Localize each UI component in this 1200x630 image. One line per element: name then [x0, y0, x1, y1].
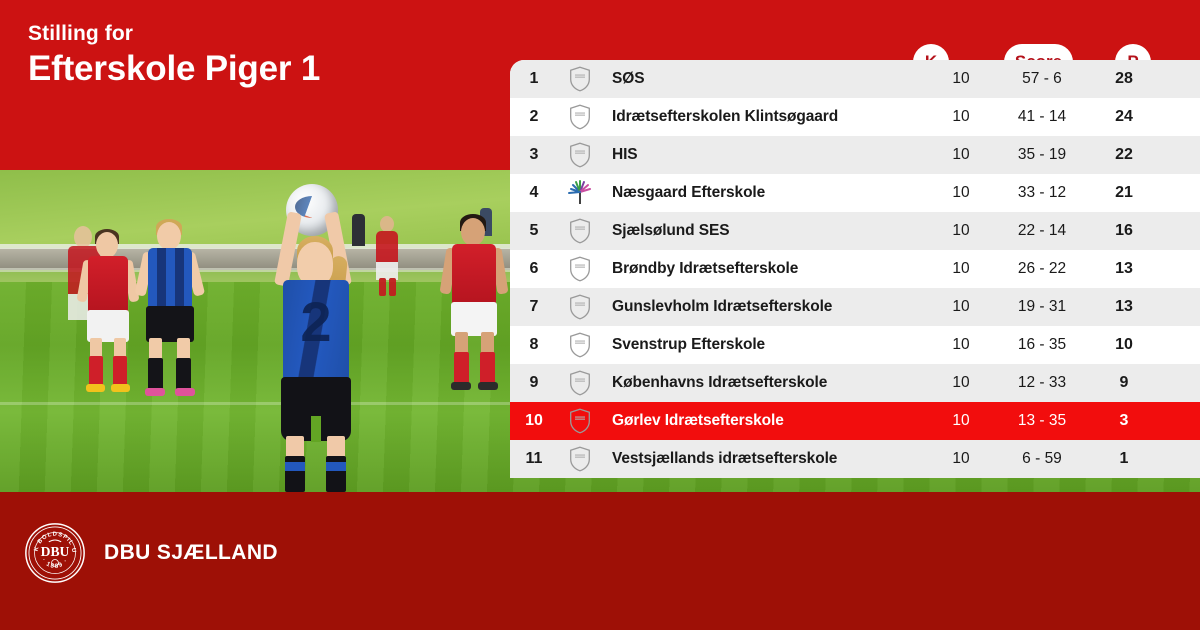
cell-club-logo — [558, 66, 602, 92]
cell-position: 10 — [510, 412, 558, 430]
cell-position: 7 — [510, 298, 558, 316]
cell-position: 9 — [510, 374, 558, 392]
cell-goal-score: 12 - 33 — [992, 374, 1092, 392]
cell-position: 11 — [510, 450, 558, 468]
cell-position: 4 — [510, 184, 558, 202]
cell-team-name: Sjælsølund SES — [602, 222, 930, 240]
standings-table: 1 SØS1057 - 6282 Idrætsefterskolen Klint… — [510, 60, 1200, 478]
table-row[interactable]: 3 HIS1035 - 1922 — [510, 136, 1200, 174]
club-shield-icon — [569, 294, 591, 320]
cell-club-logo — [558, 180, 602, 206]
club-shield-icon — [569, 446, 591, 472]
cell-team-name: Brøndby Idrætsefterskole — [602, 260, 930, 278]
cell-matches-played: 10 — [930, 412, 992, 430]
table-row[interactable]: 2 Idrætsefterskolen Klintsøgaard1041 - 1… — [510, 98, 1200, 136]
cell-goal-score: 19 - 31 — [992, 298, 1092, 316]
cell-club-logo — [558, 332, 602, 358]
cell-points: 24 — [1092, 108, 1156, 126]
cell-team-name: HIS — [602, 146, 930, 164]
club-shield-icon — [569, 104, 591, 130]
club-shield-icon — [569, 256, 591, 282]
cell-points: 28 — [1092, 70, 1156, 88]
cell-club-logo — [558, 142, 602, 168]
cell-goal-score: 41 - 14 — [992, 108, 1092, 126]
photo-player-red-right — [441, 218, 507, 404]
cell-club-logo — [558, 370, 602, 396]
cell-points: 13 — [1092, 298, 1156, 316]
table-row[interactable]: 6 Brøndby Idrætsefterskole1026 - 2213 — [510, 250, 1200, 288]
page-title: Efterskole Piger 1 — [28, 51, 320, 88]
cell-points: 13 — [1092, 260, 1156, 278]
cell-points: 1 — [1092, 450, 1156, 468]
cell-matches-played: 10 — [930, 184, 992, 202]
cell-team-name: Svenstrup Efterskole — [602, 336, 930, 354]
cell-team-name: Idrætsefterskolen Klintsøgaard — [602, 108, 930, 126]
cell-team-name: Gunslevholm Idrætsefterskole — [602, 298, 930, 316]
cell-matches-played: 10 — [930, 108, 992, 126]
photo-player-red-left — [78, 232, 138, 404]
footer-brand: DANSK BOLDSPIL UNION · 1889 · DBU DBU SJ… — [24, 522, 278, 584]
cell-club-logo — [558, 256, 602, 282]
cell-goal-score: 33 - 12 — [992, 184, 1092, 202]
naesgaard-tree-icon — [567, 180, 593, 206]
header-kicker: Stilling for — [28, 22, 320, 45]
cell-position: 5 — [510, 222, 558, 240]
header-title-wrap: Stilling for Efterskole Piger 1 — [28, 22, 320, 88]
club-shield-icon — [569, 66, 591, 92]
cell-matches-played: 10 — [930, 298, 992, 316]
cell-team-name: Københavns Idrætsefterskole — [602, 374, 930, 392]
table-row[interactable]: 4 Næsgaard Efterskole1033 - 1221 — [510, 174, 1200, 212]
cell-matches-played: 10 — [930, 146, 992, 164]
photo-player-blue-left — [133, 222, 203, 402]
cell-matches-played: 10 — [930, 260, 992, 278]
cell-goal-score: 22 - 14 — [992, 222, 1092, 240]
cell-team-name: SØS — [602, 70, 930, 88]
table-row[interactable]: 11 Vestsjællands idrætsefterskole106 - 5… — [510, 440, 1200, 478]
table-row[interactable]: 9 Københavns Idrætsefterskole1012 - 339 — [510, 364, 1200, 402]
cell-club-logo — [558, 446, 602, 472]
table-row[interactable]: 7 Gunslevholm Idrætsefterskole1019 - 311… — [510, 288, 1200, 326]
cell-matches-played: 10 — [930, 70, 992, 88]
cell-points: 16 — [1092, 222, 1156, 240]
cell-team-name: Næsgaard Efterskole — [602, 184, 930, 202]
club-shield-icon — [569, 370, 591, 396]
cell-goal-score: 16 - 35 — [992, 336, 1092, 354]
table-row[interactable]: 10 Gørlev Idrætsefterskole1013 - 353 — [510, 402, 1200, 440]
cell-club-logo — [558, 408, 602, 434]
club-shield-icon — [569, 332, 591, 358]
cell-club-logo — [558, 218, 602, 244]
cell-matches-played: 10 — [930, 222, 992, 240]
cell-goal-score: 26 - 22 — [992, 260, 1092, 278]
cell-goal-score: 57 - 6 — [992, 70, 1092, 88]
cell-matches-played: 10 — [930, 450, 992, 468]
cell-position: 1 — [510, 70, 558, 88]
footer-band: DANSK BOLDSPIL UNION · 1889 · DBU DBU SJ… — [0, 492, 1200, 630]
cell-goal-score: 13 - 35 — [992, 412, 1092, 430]
cell-points: 3 — [1092, 412, 1156, 430]
table-row[interactable]: 8 Svenstrup Efterskole1016 - 3510 — [510, 326, 1200, 364]
standings-graphic: Stilling for Efterskole Piger 1 allerup — [0, 0, 1200, 630]
cell-goal-score: 6 - 59 — [992, 450, 1092, 468]
cell-position: 3 — [510, 146, 558, 164]
table-row[interactable]: 1 SØS1057 - 628 — [510, 60, 1200, 98]
dbu-logo-icon: DANSK BOLDSPIL UNION · 1889 · DBU — [24, 522, 86, 584]
footer-org-name: DBU SJÆLLAND — [104, 541, 278, 565]
cell-matches-played: 10 — [930, 374, 992, 392]
cell-position: 2 — [510, 108, 558, 126]
cell-club-logo — [558, 104, 602, 130]
photo-player-throw-in: 2 — [253, 184, 383, 484]
cell-points: 22 — [1092, 146, 1156, 164]
cell-points: 21 — [1092, 184, 1156, 202]
cell-points: 9 — [1092, 374, 1156, 392]
photo-shirt-number: 2 — [283, 294, 349, 350]
cell-position: 8 — [510, 336, 558, 354]
table-row[interactable]: 5 Sjælsølund SES1022 - 1416 — [510, 212, 1200, 250]
cell-goal-score: 35 - 19 — [992, 146, 1092, 164]
svg-text:DBU: DBU — [41, 544, 70, 559]
cell-club-logo — [558, 294, 602, 320]
cell-team-name: Vestsjællands idrætsefterskole — [602, 450, 930, 468]
club-shield-icon — [569, 218, 591, 244]
club-shield-icon — [569, 408, 591, 434]
cell-team-name: Gørlev Idrætsefterskole — [602, 412, 930, 430]
cell-matches-played: 10 — [930, 336, 992, 354]
cell-points: 10 — [1092, 336, 1156, 354]
cell-position: 6 — [510, 260, 558, 278]
club-shield-icon — [569, 142, 591, 168]
